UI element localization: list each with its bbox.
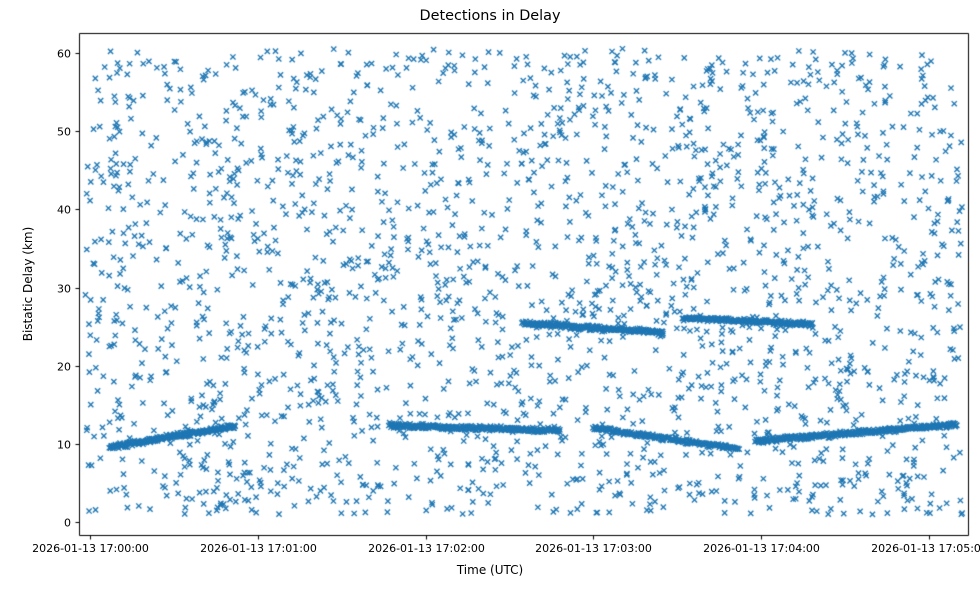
scatter-plot-canvas (0, 0, 980, 590)
figure-canvas-root: Detections in Delay Time (UTC) Bistatic … (0, 0, 980, 590)
y-axis-label: Bistatic Delay (km) (21, 184, 35, 384)
chart-title: Detections in Delay (0, 8, 980, 24)
x-axis-label: Time (UTC) (0, 563, 980, 577)
